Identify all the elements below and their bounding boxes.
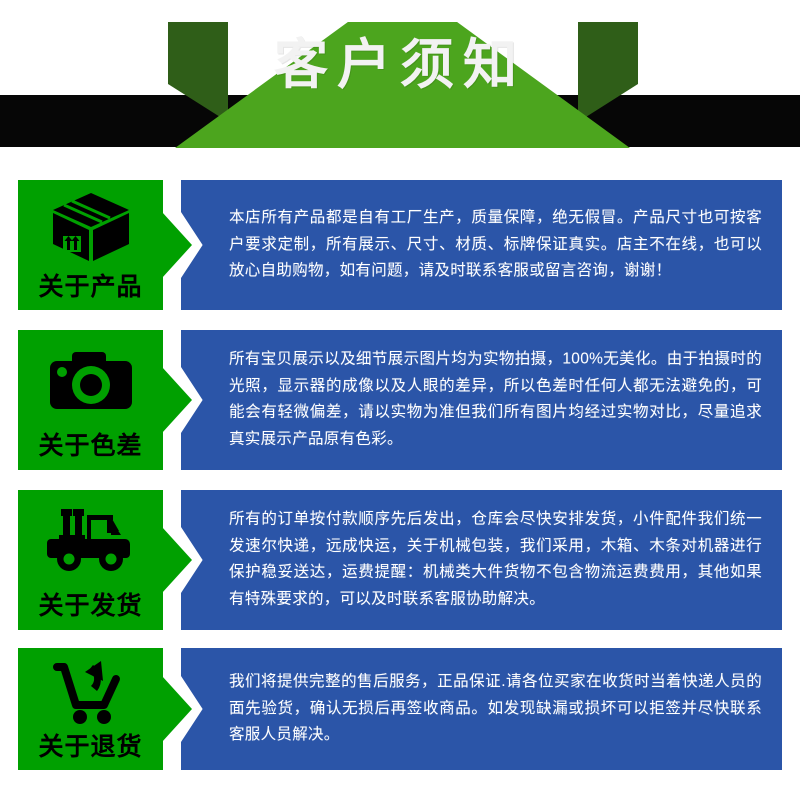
return-cart-icon — [18, 660, 163, 723]
icon-label-returns: 关于退货 — [18, 735, 163, 760]
text-panel-product: 本店所有产品都是自有工厂生产，质量保障，绝无假冒。产品尺寸也可按客户要求定制，所… — [181, 180, 782, 310]
notice-section-color: 关于色差 所有宝贝展示以及细节展示图片均为实物拍摄，100%无美化。由于拍摄时的… — [18, 330, 782, 470]
icon-card-shipping: 关于发货 — [18, 490, 163, 630]
forklift-truck-icon — [18, 504, 163, 577]
icon-label-color: 关于色差 — [18, 434, 163, 459]
notice-text-color: 所有宝贝展示以及细节展示图片均为实物拍摄，100%无美化。由于拍摄时的光照，显示… — [229, 347, 762, 454]
camera-icon — [18, 344, 163, 417]
icon-label-product: 关于产品 — [18, 275, 163, 300]
notice-text-shipping: 所有的订单按付款顺序先后发出，仓库会尽快安排发货，小件配件我们统一发速尔快递，远… — [229, 507, 762, 614]
text-panel-color: 所有宝贝展示以及细节展示图片均为实物拍摄，100%无美化。由于拍摄时的光照，显示… — [181, 330, 782, 470]
notice-section-product: 关于产品 本店所有产品都是自有工厂生产，质量保障，绝无假冒。产品尺寸也可按客户要… — [18, 180, 782, 310]
text-panel-shipping: 所有的订单按付款顺序先后发出，仓库会尽快安排发货，小件配件我们统一发速尔快递，远… — [181, 490, 782, 630]
icon-card-product: 关于产品 — [18, 180, 163, 310]
icon-label-shipping: 关于发货 — [18, 594, 163, 619]
notice-section-shipping: 关于发货 所有的订单按付款顺序先后发出，仓库会尽快安排发货，小件配件我们统一发速… — [18, 490, 782, 630]
icon-card-returns: 关于退货 — [18, 648, 163, 770]
notice-section-returns: 关于退货 我们将提供完整的售后服务，正品保证.请各位买家在收货时当着快递人员的面… — [18, 648, 782, 770]
icon-card-color: 关于色差 — [18, 330, 163, 470]
customer-notice-page: 客户须知 — [0, 0, 800, 800]
page-header-banner: 客户须知 — [0, 0, 800, 160]
package-box-icon — [18, 193, 163, 261]
text-panel-returns: 我们将提供完整的售后服务，正品保证.请各位买家在收货时当着快递人员的面先验货，确… — [181, 648, 782, 770]
page-title: 客户须知 — [0, 36, 800, 95]
notice-text-returns: 我们将提供完整的售后服务，正品保证.请各位买家在收货时当着快递人员的面先验货，确… — [229, 669, 762, 749]
notice-text-product: 本店所有产品都是自有工厂生产，质量保障，绝无假冒。产品尺寸也可按客户要求定制，所… — [229, 205, 762, 285]
